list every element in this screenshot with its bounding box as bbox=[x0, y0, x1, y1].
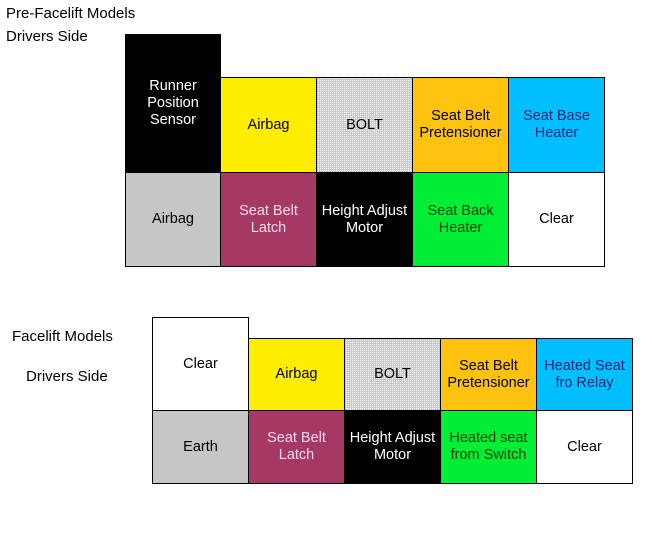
fuse-cell: Airbag bbox=[220, 77, 317, 173]
fuse-cell: Seat Base Heater bbox=[508, 77, 605, 173]
fuse-cell-label: Height Adjust Motor bbox=[319, 203, 410, 237]
fuse-cell-label: Runner Position Sensor bbox=[128, 78, 218, 129]
fuse-cell: Clear bbox=[508, 172, 605, 267]
fuse-cell: Height Adjust Motor bbox=[316, 172, 413, 267]
fuse-cell-label: Clear bbox=[155, 356, 246, 373]
fuse-cell-label: BOLT bbox=[347, 366, 438, 383]
facelift-subtitle: Drivers Side bbox=[26, 368, 108, 385]
fuse-cell: Clear bbox=[536, 410, 633, 484]
pre-facelift-subtitle: Drivers Side bbox=[6, 28, 88, 45]
fuse-cell-label: Airbag bbox=[223, 117, 314, 134]
fuse-cell: Height Adjust Motor bbox=[344, 410, 441, 484]
fuse-cell-label: Earth bbox=[155, 439, 246, 456]
fuse-cell-label: Seat Belt Latch bbox=[223, 203, 314, 237]
fuse-cell: Seat Back Heater bbox=[412, 172, 509, 267]
fuse-cell: Seat Belt Pretensioner bbox=[440, 338, 537, 411]
fuse-cell-label: Heated seat from Switch bbox=[443, 430, 534, 464]
fuse-cell: Airbag bbox=[125, 172, 221, 267]
fuse-cell: Seat Belt Latch bbox=[220, 172, 317, 267]
fuse-cell: Earth bbox=[152, 410, 249, 484]
fuse-cell: Runner Position Sensor bbox=[125, 34, 221, 173]
fuse-cell-label: Seat Base Heater bbox=[511, 108, 602, 142]
fuse-cell-label: Seat Back Heater bbox=[415, 203, 506, 237]
fuse-cell-label: BOLT bbox=[319, 117, 410, 134]
fuse-cell: Seat Belt Pretensioner bbox=[412, 77, 509, 173]
fuse-cell-label: Seat Belt Pretensioner bbox=[443, 358, 534, 392]
fuse-cell-label: Airbag bbox=[251, 366, 342, 383]
facelift-title: Facelift Models bbox=[12, 328, 113, 345]
fuse-cell: Airbag bbox=[248, 338, 345, 411]
fuse-cell: Heated seat from Switch bbox=[440, 410, 537, 484]
pre-facelift-title: Pre-Facelift Models bbox=[6, 5, 135, 22]
fuse-cell: BOLT bbox=[316, 77, 413, 173]
fuse-cell: Clear bbox=[152, 317, 249, 411]
fuse-cell-label: Clear bbox=[539, 439, 630, 456]
fuse-cell-label: Heated Seat fro Relay bbox=[539, 358, 630, 392]
fuse-cell-label: Clear bbox=[511, 211, 602, 228]
fusebox-facelift-drivers-side: Clear Airbag BOLT Seat Belt Pretensioner… bbox=[152, 317, 634, 484]
fuse-cell-label: Height Adjust Motor bbox=[347, 430, 438, 464]
fuse-cell-label: Seat Belt Pretensioner bbox=[415, 108, 506, 142]
fusebox-pre-facelift-drivers-side: Runner Position Sensor Airbag BOLT Seat … bbox=[125, 34, 606, 267]
fuse-cell: BOLT bbox=[344, 338, 441, 411]
fuse-cell: Seat Belt Latch bbox=[248, 410, 345, 484]
fuse-cell-label: Airbag bbox=[128, 211, 218, 228]
fuse-cell-label: Seat Belt Latch bbox=[251, 430, 342, 464]
fuse-cell: Heated Seat fro Relay bbox=[536, 338, 633, 411]
